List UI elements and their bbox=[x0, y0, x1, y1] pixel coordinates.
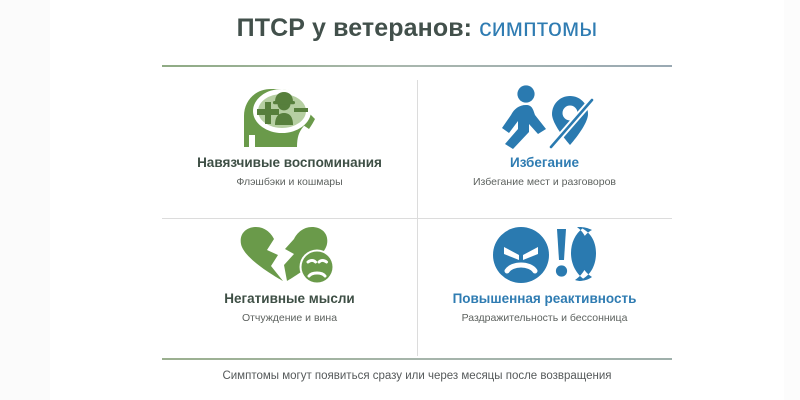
infographic-card: ПТСР у ветеранов: симптомы bbox=[50, 0, 784, 400]
quadrant-intrusive-memories[interactable]: Навязчивые воспоминания Флэшбэки и кошма… bbox=[162, 78, 417, 218]
quadrant-label: Повышенная реактивность bbox=[453, 291, 637, 307]
page-title: ПТСР у ветеранов: симптомы bbox=[50, 14, 784, 43]
quadrant-hyperarousal[interactable]: Повышенная реактивность Раздражительност… bbox=[417, 218, 672, 358]
broken-heart-sad-face-icon bbox=[238, 224, 342, 286]
quadrant-avoidance[interactable]: Избегание Избегание мест и разговоров bbox=[417, 78, 672, 218]
quadrant-label: Навязчивые воспоминания bbox=[197, 155, 382, 171]
infographic-canvas: ПТСР у ветеранов: симптомы bbox=[0, 0, 800, 400]
quadrant-label: Избегание bbox=[510, 155, 579, 171]
page-title-main: ПТСР у ветеранов: bbox=[237, 14, 472, 42]
left-edge-band bbox=[0, 0, 50, 400]
title-divider bbox=[162, 65, 672, 67]
footer-note: Симптомы могут появиться сразу или через… bbox=[50, 370, 784, 382]
angry-face-exclamation-moon-icon bbox=[491, 224, 599, 286]
right-edge-band bbox=[784, 0, 800, 400]
quadrant-subtitle: Флэшбэки и кошмары bbox=[236, 176, 342, 189]
quadrant-subtitle: Раздражительность и бессонница bbox=[462, 312, 628, 325]
quadrant-subtitle: Отчуждение и вина bbox=[242, 312, 337, 325]
quadrant-label: Негативные мысли bbox=[224, 291, 354, 307]
footer-divider bbox=[162, 358, 672, 360]
symptom-grid: Навязчивые воспоминания Флэшбэки и кошма… bbox=[162, 78, 672, 358]
quadrant-negative-thoughts[interactable]: Негативные мысли Отчуждение и вина bbox=[162, 218, 417, 358]
quadrant-subtitle: Избегание мест и разговоров bbox=[473, 176, 616, 189]
walking-person-no-location-icon bbox=[493, 84, 597, 150]
page-title-accent: симптомы bbox=[479, 14, 597, 42]
head-with-soldier-thought-icon bbox=[241, 84, 339, 150]
